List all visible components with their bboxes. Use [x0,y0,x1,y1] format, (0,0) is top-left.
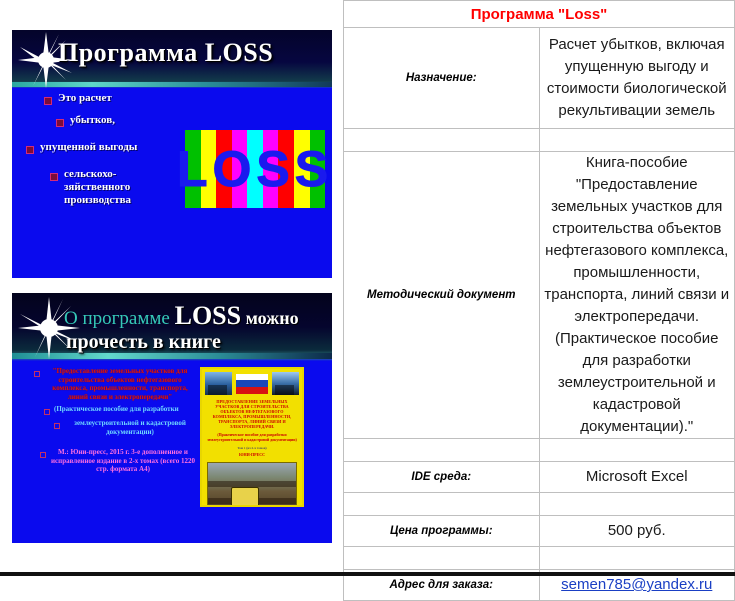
slide1-bullet-3: упущенной выгоды [12,141,198,154]
row-label-purpose: Назначение: [344,28,540,129]
bullet-square-icon [56,119,64,127]
spacer-cell-right [539,129,735,152]
spacer-cell-right [539,547,735,570]
bottom-black-bar [0,572,735,576]
bullet-square-icon [34,371,40,377]
slide2-bullet-4: М.: Юни-пресс, 2015 г. 3-е дополненное и… [18,448,196,474]
book-photo-oil-rig [272,372,299,395]
slide1-divider-rule [12,82,332,87]
slide2-bullet-3-text: землеустроительной и кадастровой докумен… [64,419,196,436]
slide2-title-loss: LOSS [175,301,242,330]
table-row: Назначение: Расчет убытков, включая упущ… [344,28,735,129]
spec-table: Программа "Loss" Назначение: Расчет убыт… [343,0,735,601]
table-spacer-row [344,439,735,462]
table-spacer-row [344,129,735,152]
slides-panel: Программа LOSS Это расчет убытков, упуще… [0,0,343,576]
table-spacer-row [344,493,735,516]
bulldozer-icon [231,487,259,507]
slide1-title: Программа LOSS [58,38,273,68]
spacer-cell-right [539,439,735,462]
table-row: Цена программы: 500 руб. [344,516,735,547]
table-title-row: Программа "Loss" [344,1,735,28]
slide1-bullet-list: Это расчет убытков, упущенной выгоды сел… [12,92,198,216]
slide-program-loss[interactable]: Программа LOSS Это расчет убытков, упуще… [12,30,332,278]
slide1-bullet-4-text: сельскохо- зяйственного производства [64,168,131,207]
book-cover-subtitle: (Практическое пособие для разработки зем… [206,433,298,443]
slide1-bullet-2: убытков, [12,114,198,127]
slide2-bullet-3: землеустроительной и кадастровой докумен… [18,419,196,436]
row-label-price: Цена программы: [344,516,540,547]
bullet-square-icon [26,146,34,154]
slide1-bullet-3-text: упущенной выгоды [40,141,137,154]
russia-flag-map-icon [234,372,269,395]
book-cover-image: ПРЕДОСТАВЛЕНИЕ ЗЕМЕЛЬНЫХ УЧАСТКОВ ДЛЯ СТ… [200,367,304,507]
slide2-title-line1: О программе LOSS можно [64,301,299,331]
book-photo-pipeline [205,372,232,395]
slide2-bullet-2-text: (Практическое пособие для разработки [54,405,179,414]
slide2-bullet-1-text: "Предоставление земельных участков для с… [44,367,196,401]
bullet-square-icon [50,173,58,181]
book-cover-title: ПРЕДОСТАВЛЕНИЕ ЗЕМЕЛЬНЫХ УЧАСТКОВ ДЛЯ СТ… [206,399,298,429]
spacer-cell-left [344,129,540,152]
bullet-square-icon [40,452,46,458]
table-row: IDE среда: Microsoft Excel [344,462,735,493]
bullet-square-icon [54,423,60,429]
row-label-methodical-document: Методический документ [344,152,540,439]
book-cover-photo [207,462,297,508]
slide1-bullet-1-text: Это расчет [58,92,112,105]
slide1-bullet-4: сельскохо- зяйственного производства [12,168,198,207]
book-cover-volume: Том 1 (из 2-х томов) [206,446,298,450]
slide1-bullet-4-line1: сельскохо- [64,168,116,180]
spacer-cell-left [344,547,540,570]
spacer-cell-right [539,493,735,516]
row-value-price: 500 руб. [539,516,735,547]
spec-table-panel: Программа "Loss" Назначение: Расчет убыт… [343,0,735,576]
spacer-cell-left [344,493,540,516]
bullet-square-icon [44,97,52,105]
slide2-bullet-2: (Практическое пособие для разработки [18,405,196,415]
bullet-square-icon [44,409,50,415]
row-value-methodical-document: Книга-пособие "Предоставление земельных … [539,152,735,439]
slide-about-loss-book[interactable]: О программе LOSS можно прочесть в книге … [12,293,332,543]
slide2-bullet-list: "Предоставление земельных участков для с… [18,367,196,478]
page-root: Программа LOSS Это расчет убытков, упуще… [0,0,735,576]
slide2-title-line2: прочесть в книге [66,331,221,354]
table-row: Методический документ Книга-пособие "Пре… [344,152,735,439]
table-spacer-row [344,547,735,570]
slide2-bullet-1: "Предоставление земельных участков для с… [18,367,196,401]
slide1-bullet-2-text: убытков, [70,114,115,127]
spacer-cell-left [344,439,540,462]
slide1-bullet-4-line3: производства [64,194,131,206]
slide1-bullet-4-line2: зяйственного [64,181,130,193]
order-email-link[interactable]: semen785@yandex.ru [561,576,712,593]
loss-logo-text: LOSS [185,130,325,208]
book-cover-top-photos [202,369,302,395]
slide2-title-suffix: можно [241,308,299,328]
row-value-purpose: Расчет убытков, включая упущенную выгоду… [539,28,735,129]
slide2-title-prefix: О программе [64,308,175,329]
row-value-ide: Microsoft Excel [539,462,735,493]
slide2-bullet-4-text: М.: Юни-пресс, 2015 г. 3-е дополненное и… [50,448,196,474]
table-title: Программа "Loss" [344,1,735,28]
book-cover-imprint: ЮНИ-ПРЕСС [206,453,298,458]
row-label-ide: IDE среда: [344,462,540,493]
slide1-bullet-1: Это расчет [12,92,198,105]
